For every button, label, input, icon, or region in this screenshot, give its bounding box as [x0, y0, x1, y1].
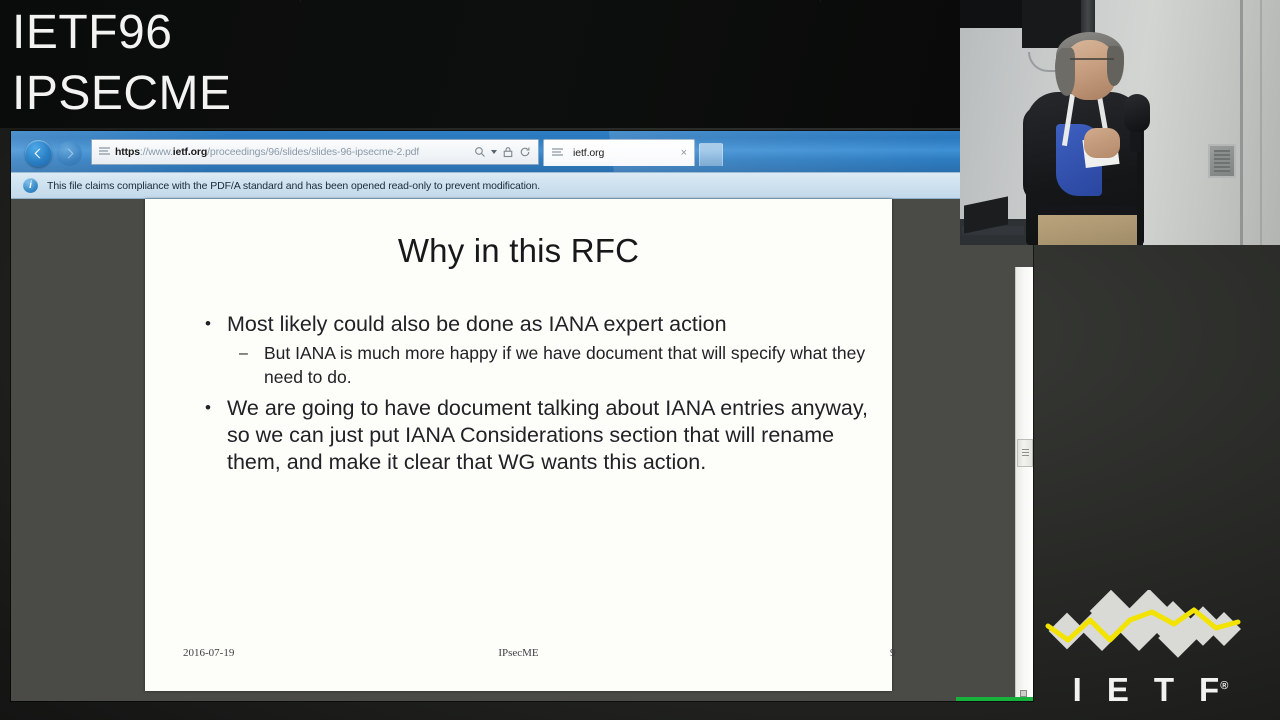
session-title-line-1: IETF96 [12, 9, 172, 57]
wall-vent-panel [1208, 144, 1236, 178]
resize-grip-icon[interactable] [1020, 690, 1027, 697]
refresh-icon[interactable] [519, 146, 531, 158]
url-path: /proceedings/96/slides/slides-96-ipsecme… [207, 146, 419, 158]
lock-icon[interactable] [502, 146, 514, 158]
url-separator: :// [140, 146, 148, 158]
pdfa-notification-text: This file claims compliance with the PDF… [47, 180, 540, 192]
bullet-item: Most likely could also be done as IANA e… [192, 311, 868, 338]
search-icon[interactable] [474, 146, 486, 158]
tab-label: ietf.org [573, 147, 604, 159]
browser-tab-ietf[interactable]: ietf.org × [543, 139, 695, 166]
new-tab-button[interactable] [699, 143, 723, 166]
ietf-logo: I E T F® [1044, 590, 1258, 708]
slide-page-number: 9 [890, 647, 902, 659]
logo-letter: E [1107, 673, 1130, 706]
chevron-down-icon[interactable] [491, 150, 497, 154]
speaker-hands [1084, 128, 1120, 158]
microphone-icon [1124, 94, 1150, 132]
url-domain: ietf.org [173, 146, 207, 158]
address-bar-icons [474, 146, 534, 158]
session-title-banner: IETF96 IPSECME [0, 0, 960, 128]
slide-footer: 2016-07-19 IPsecME 9 [145, 647, 892, 663]
address-bar[interactable]: https://www.ietf.org/proceedings/96/slid… [91, 139, 539, 165]
browser-window: https://www.ietf.org/proceedings/96/slid… [11, 131, 1033, 701]
address-bar-url: https://www.ietf.org/proceedings/96/slid… [115, 146, 419, 158]
grip-icon [1022, 449, 1029, 458]
logo-letter-f-wrap: F® [1199, 673, 1229, 706]
pdf-viewport: Why in this RFC Most likely could also b… [11, 199, 1033, 701]
close-icon[interactable]: × [681, 148, 689, 159]
pdfa-notification-bar: i This file claims compliance with the P… [11, 172, 1033, 199]
speaker-belt [1038, 206, 1142, 215]
speaker-glasses [1070, 58, 1114, 68]
progress-indicator [956, 697, 1033, 701]
vertical-scrollbar[interactable] [1015, 267, 1033, 701]
ietf-logo-wordmark: I E T F® [1044, 673, 1258, 706]
pdf-page: Why in this RFC Most likely could also b… [145, 199, 892, 691]
browser-toolbar: https://www.ietf.org/proceedings/96/slid… [11, 131, 1033, 172]
url-scheme: https [115, 146, 140, 158]
url-subdomain: www. [148, 146, 173, 158]
back-button[interactable] [25, 140, 52, 167]
forward-button[interactable] [57, 141, 82, 166]
wall-seam [1260, 0, 1262, 245]
slide-title: Why in this RFC [145, 232, 892, 270]
wall-seam [1240, 0, 1243, 245]
back-arrow-icon [32, 147, 45, 160]
forward-arrow-icon [63, 147, 76, 160]
logo-letter: I [1073, 673, 1083, 706]
registered-mark: ® [1220, 680, 1229, 692]
info-icon: i [23, 178, 38, 193]
logo-letter: F [1199, 671, 1220, 708]
bullet-item: We are going to have document talking ab… [192, 395, 868, 476]
dark-corner [960, 0, 1022, 28]
logo-letter: T [1154, 673, 1175, 706]
screen-root: IETF96 IPSECME https://www.ietf.org/proc… [0, 0, 1280, 720]
page-icon [99, 147, 110, 157]
bullet-item: But IANA is much more happy if we have d… [192, 342, 868, 389]
scrollbar-thumb[interactable] [1017, 439, 1033, 467]
session-title-line-2: IPSECME [12, 70, 232, 118]
slide-footer-group: IPsecME [145, 647, 892, 659]
speaker-webcam-feed [960, 0, 1280, 245]
tab-favicon-icon [552, 148, 563, 158]
slide-bullet-list: Most likely could also be done as IANA e… [192, 311, 868, 480]
